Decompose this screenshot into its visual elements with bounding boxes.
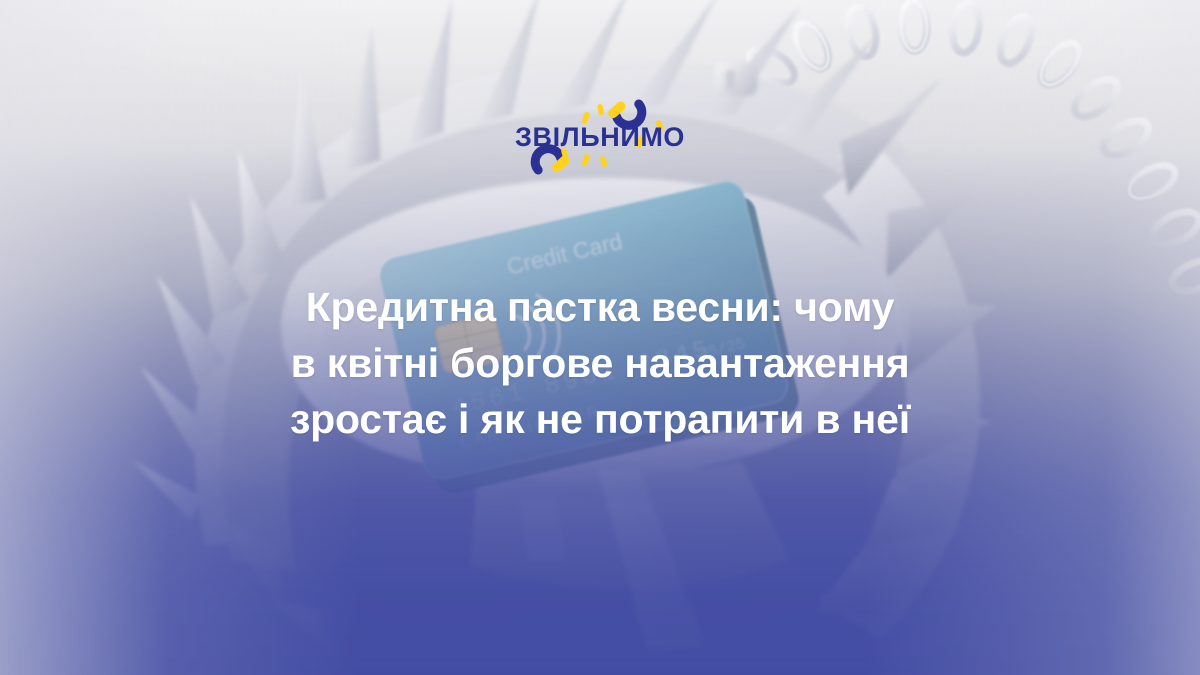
headline: Кредитна пастка весни: чому в квітні бор… [0,279,1200,447]
article-cover-card: Credit Card 4561 8901 2345 08/25 CA [0,0,1200,675]
brand-logo[interactable]: ЗВІЛЬНИМО [505,92,695,188]
headline-line-3: зростає і як не потрапити в неї [130,391,1070,447]
headline-line-2: в квітні боргове навантаження [130,335,1070,391]
headline-line-1: Кредитна пастка весни: чому [130,279,1070,335]
